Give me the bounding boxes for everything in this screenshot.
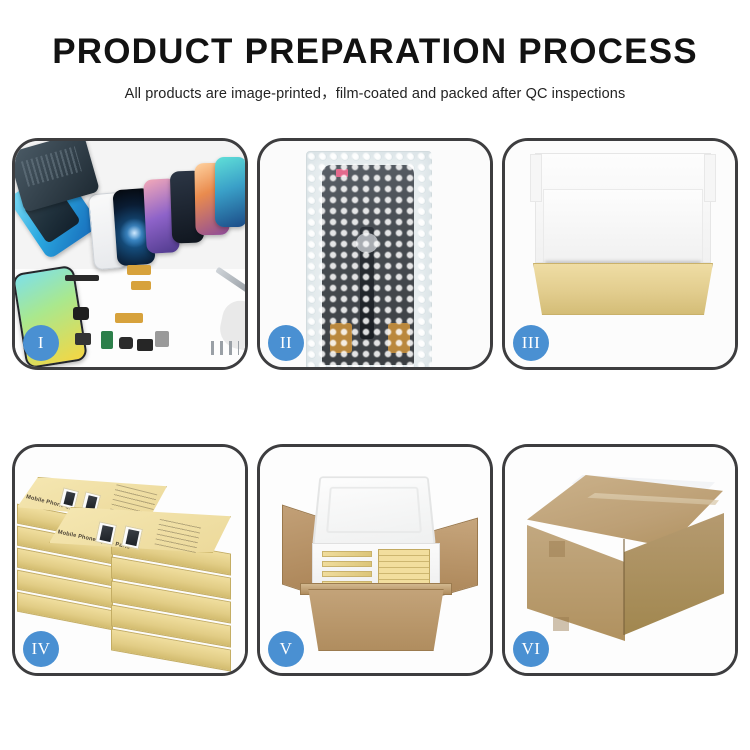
- carton-patch-lower: [553, 617, 569, 631]
- flex-cable-part-3: [115, 313, 143, 323]
- flex-cable-part-2: [131, 281, 151, 290]
- carton-front-wall: [304, 589, 448, 651]
- product-preparation-infographic: PRODUCT PREPARATION PROCESS All products…: [0, 0, 750, 750]
- carton-patch-upper: [549, 541, 565, 557]
- page-title: PRODUCT PREPARATION PROCESS: [0, 34, 750, 71]
- step-panel-4: Mobile Phone Spare Parts Mobile Phone Sp…: [12, 444, 248, 676]
- camera-module-part: [73, 307, 89, 320]
- battery-connector-part: [101, 331, 113, 349]
- step-badge-1: I: [23, 325, 59, 361]
- step-panel-3: III: [502, 138, 738, 370]
- steps-grid: I II: [12, 138, 738, 738]
- button-part: [119, 337, 133, 349]
- earpiece-speaker-part: [65, 275, 99, 281]
- step-panel-6: VI: [502, 444, 738, 676]
- kraft-box-front: [533, 263, 713, 315]
- step-badge-2: II: [268, 325, 304, 361]
- step-panel-1: I: [12, 138, 248, 370]
- packed-box-row-3: [322, 571, 372, 577]
- teal-phone-screen-image: [215, 157, 245, 227]
- loudspeaker-part: [75, 333, 91, 345]
- step-panel-2: II: [257, 138, 493, 370]
- flex-connector-pad: [356, 233, 378, 253]
- styrofoam-lid: [312, 476, 436, 545]
- pink-label-tab: [336, 169, 348, 177]
- step-badge-6: VI: [513, 631, 549, 667]
- packed-box-row-2: [322, 561, 372, 567]
- step-badge-4: IV: [23, 631, 59, 667]
- step-badge-3: III: [513, 325, 549, 361]
- carton-edge-seam: [623, 539, 625, 635]
- flex-cable-part-1: [127, 265, 151, 275]
- step-badge-5: V: [268, 631, 304, 667]
- screws-group: [211, 341, 239, 355]
- packed-box-row-1: [322, 551, 372, 557]
- white-foam-sheet: [543, 189, 703, 267]
- charging-port-part: [137, 339, 153, 351]
- header: PRODUCT PREPARATION PROCESS All products…: [0, 0, 750, 103]
- page-subtitle: All products are image-printed，film-coat…: [0, 82, 750, 103]
- step-panel-5: V: [257, 444, 493, 676]
- connector-left: [330, 323, 352, 353]
- connector-right: [388, 323, 410, 353]
- sim-tray-part: [155, 331, 169, 347]
